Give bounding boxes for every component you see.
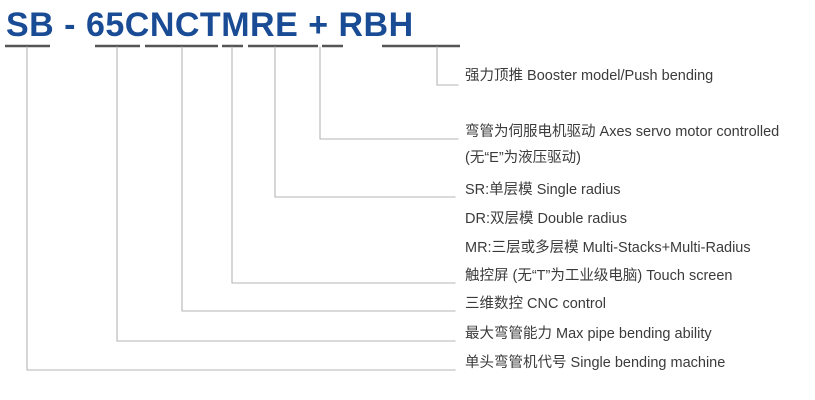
leader-cnc-to-cnc-control [182,47,455,311]
leader-65-to-max-bending [117,47,455,341]
callout-single-radius: SR:单层模 Single radius [465,182,621,198]
leader-t-to-touch-screen [232,47,455,283]
callout-multi-radius: MR:三层或多层模 Multi-Stacks+Multi-Radius [465,240,751,256]
leader-rbh-to-booster [437,47,458,85]
callout-cnc-control: 三维数控 CNC control [465,296,606,312]
callout-booster: 强力顶推 Booster model/Push bending [465,68,713,84]
model-code-callout-diagram: SB - 65CNCTMRE + RBH 强力顶推 Booster model/… [0,0,815,400]
callout-axes-servo-note: (无“E”为液压驱动) [465,150,581,166]
leader-elbows [27,47,458,370]
callout-max-bending: 最大弯管能力 Max pipe bending ability [465,326,712,342]
leader-mr-to-single-radius [275,47,455,197]
callout-axes-servo: 弯管为伺服电机驱动 Axes servo motor controlled [465,124,779,140]
callout-double-radius: DR:双层模 Double radius [465,211,627,227]
callout-single-bending: 单头弯管机代号 Single bending machine [465,355,725,371]
callout-touch-screen: 触控屏 (无“T”为工业级电脑) Touch screen [465,268,732,284]
leader-sb-to-single-bending [27,47,455,370]
